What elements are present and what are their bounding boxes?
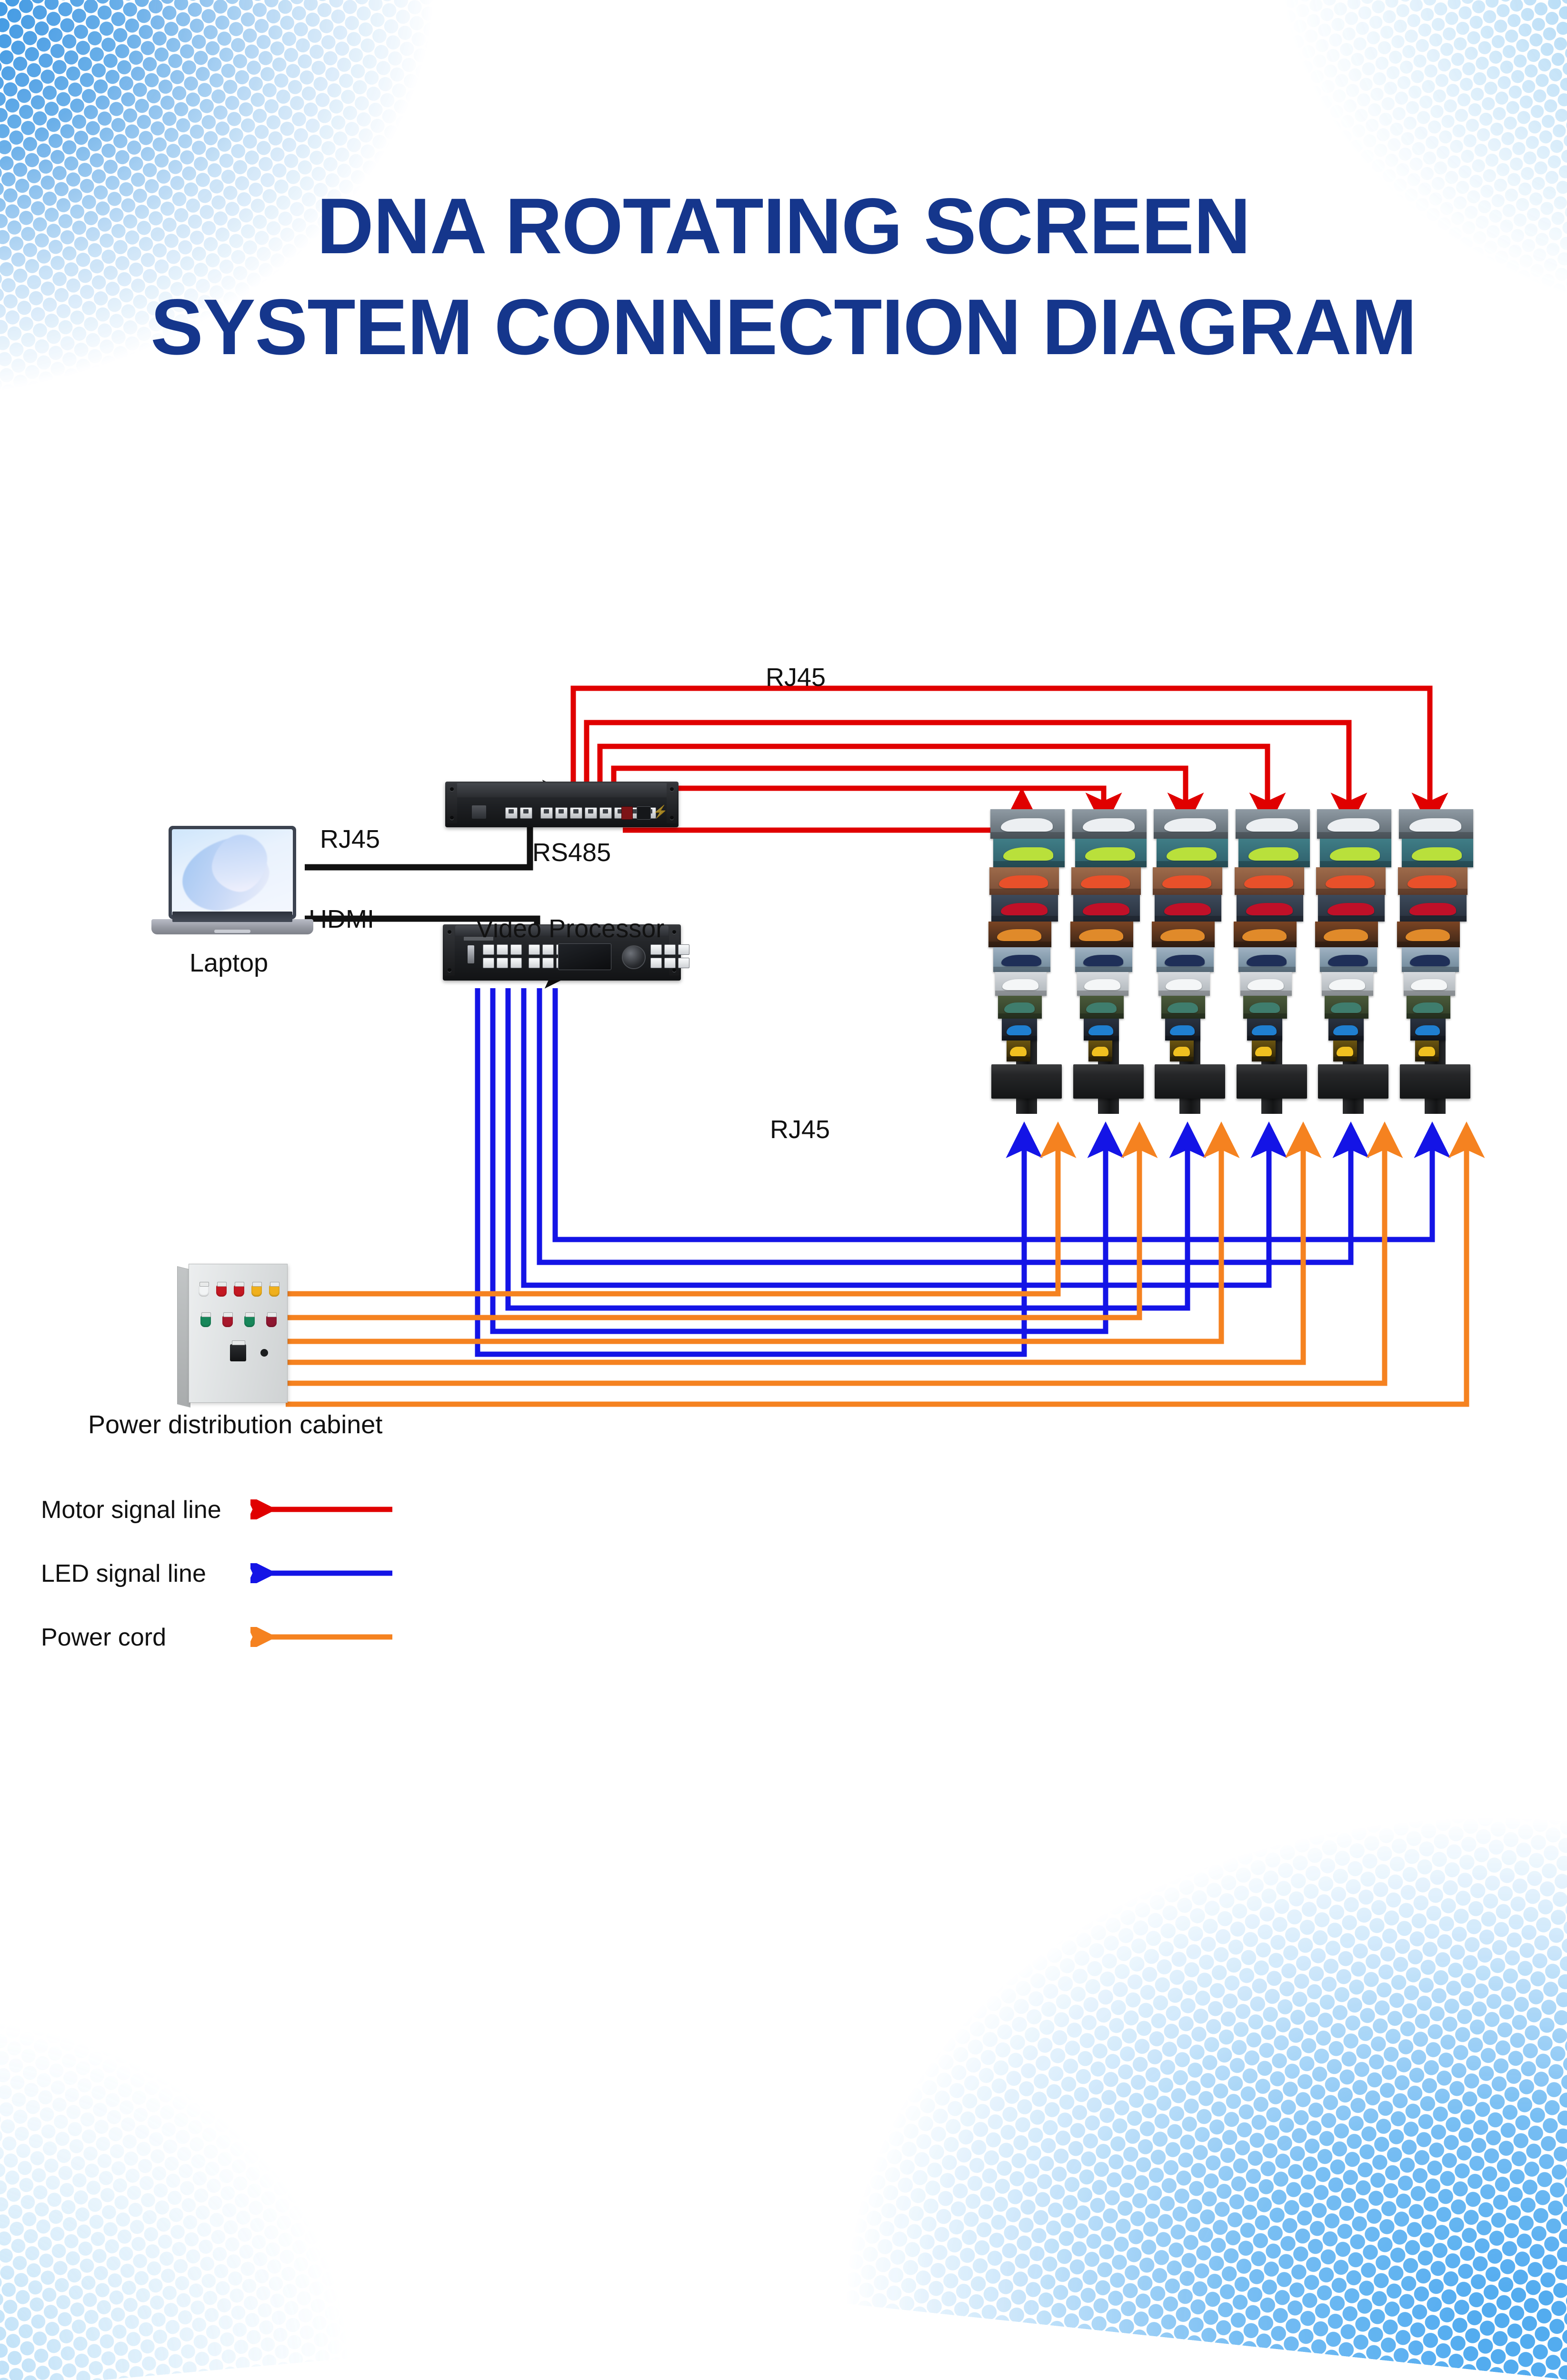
- panel-road-band: [1410, 1036, 1446, 1041]
- car-image: [1246, 903, 1293, 915]
- panel-road-band: [998, 1013, 1042, 1019]
- screen-panel: [1234, 922, 1297, 947]
- screen-panel: [1075, 947, 1132, 972]
- car-image: [1173, 1047, 1190, 1056]
- car-image: [1088, 1025, 1113, 1035]
- screen-panel: [1165, 1019, 1200, 1041]
- panel-road-band: [1402, 861, 1473, 867]
- function-button[interactable]: [650, 944, 662, 955]
- panel-road-band: [1320, 861, 1391, 867]
- electrical-cabinet-icon[interactable]: [177, 1264, 287, 1409]
- panel-road-band: [1328, 1036, 1364, 1041]
- preset-button[interactable]: [510, 944, 522, 955]
- power-switch-icon[interactable]: [468, 945, 474, 963]
- screen-panel: [1236, 809, 1310, 839]
- screen-base: [1318, 1064, 1388, 1099]
- car-image: [1003, 847, 1053, 861]
- car-image: [1084, 979, 1120, 990]
- car-image: [1412, 847, 1462, 861]
- rj45-port[interactable]: [570, 807, 582, 819]
- cabinet-front-door[interactable]: [189, 1264, 288, 1403]
- screen-panel: [1415, 1041, 1439, 1061]
- panel-road-band: [1153, 889, 1222, 895]
- screen-base: [1237, 1064, 1307, 1099]
- car-image: [1255, 1047, 1272, 1056]
- car-image: [1092, 1047, 1108, 1056]
- panel-road-band: [1002, 1036, 1037, 1041]
- screen-panel: [998, 996, 1042, 1019]
- car-image: [1162, 875, 1211, 888]
- car-image: [1081, 875, 1129, 888]
- rack-ear-left: [444, 926, 455, 976]
- panel-road-band: [1236, 832, 1310, 839]
- screen-panel: [991, 895, 1058, 922]
- panel-road-band: [1154, 832, 1228, 839]
- screen-panel: [1402, 947, 1459, 972]
- car-image: [1413, 1002, 1443, 1013]
- car-image: [1248, 979, 1284, 990]
- panel-road-band: [1080, 1013, 1124, 1019]
- car-image: [1328, 955, 1368, 966]
- indicator-lamp: [234, 1285, 244, 1297]
- preset-button[interactable]: [497, 958, 508, 968]
- screen-panel: [1252, 1041, 1276, 1061]
- panel-road-band: [1398, 889, 1467, 895]
- screen-panel: [1157, 947, 1214, 972]
- screen-panel: [1407, 996, 1450, 1019]
- car-image: [1079, 929, 1123, 941]
- preset-button[interactable]: [529, 958, 540, 968]
- preset-button[interactable]: [542, 958, 554, 968]
- screen-panel: [1077, 972, 1128, 996]
- screen-base: [1073, 1064, 1144, 1099]
- preset-button[interactable]: [497, 944, 508, 955]
- car-image: [1001, 818, 1053, 832]
- rack-ear-right: [667, 783, 677, 823]
- screen-panel: [1320, 947, 1377, 972]
- screen-panel: [1400, 895, 1467, 922]
- car-image: [1415, 1025, 1440, 1035]
- car-image: [1247, 955, 1287, 966]
- panel-road-band: [1240, 991, 1292, 996]
- panel-road-band: [1238, 861, 1310, 867]
- label-hdmi: HDMI: [309, 904, 374, 934]
- car-image: [1001, 955, 1041, 966]
- lightning-icon: ⚡: [653, 805, 668, 818]
- car-image: [1246, 818, 1298, 832]
- panel-road-band: [1161, 1013, 1205, 1019]
- screen-panel: [1238, 839, 1310, 867]
- panel-road-band: [1316, 889, 1386, 895]
- panel-road-band: [1071, 889, 1141, 895]
- panel-road-band: [1072, 832, 1147, 839]
- pilot-light-icon: [260, 1349, 268, 1357]
- car-image: [1164, 818, 1216, 832]
- left-arrow-icon: [250, 1499, 393, 1519]
- car-image: [1164, 903, 1211, 915]
- screen-panel: [1080, 996, 1124, 1019]
- screen-panel: [1317, 809, 1391, 839]
- panel-road-band: [1320, 967, 1377, 972]
- car-image: [999, 875, 1048, 888]
- panel-road-band: [1237, 916, 1303, 922]
- panel-road-band: [1318, 916, 1385, 922]
- panel-road-band: [1234, 942, 1297, 947]
- screen-panel: [1071, 867, 1141, 895]
- button-row-right-top[interactable]: [650, 944, 689, 955]
- panel-road-band: [1235, 889, 1304, 895]
- rs485-switch-icon[interactable]: ⚡: [445, 782, 679, 827]
- screen-panel: [1333, 1041, 1357, 1061]
- car-image: [1083, 818, 1135, 832]
- screen-panel: [988, 922, 1051, 947]
- indicator-lamp: [222, 1316, 233, 1327]
- screen-panel: [1073, 895, 1140, 922]
- panel-road-band: [1158, 991, 1210, 996]
- cable-diagram: [0, 0, 1567, 2226]
- car-image: [1326, 875, 1374, 888]
- car-image: [1324, 929, 1367, 941]
- car-image: [1407, 875, 1456, 888]
- preset-button[interactable]: [510, 958, 522, 968]
- screen-panel: [1240, 972, 1292, 996]
- jog-dial-icon[interactable]: [622, 945, 646, 969]
- screen-panel: [1161, 996, 1205, 1019]
- screen-panel: [1322, 972, 1373, 996]
- laptop-label: Laptop: [190, 948, 268, 978]
- panel-road-band: [1404, 991, 1455, 996]
- panel-road-band: [1252, 1057, 1276, 1061]
- car-image: [1249, 1002, 1280, 1013]
- screen-panel: [1153, 867, 1222, 895]
- screen-panel: [989, 867, 1059, 895]
- screen-panel: [1157, 839, 1228, 867]
- panel-road-band: [1157, 861, 1228, 867]
- button-row-right-bottom[interactable]: [650, 958, 689, 968]
- indicator-lamp: [216, 1285, 227, 1297]
- screen-panel: [1070, 922, 1133, 947]
- screen-panel: [1152, 922, 1215, 947]
- screen-panel: [1235, 867, 1304, 895]
- panel-road-band: [1317, 832, 1391, 839]
- panel-road-band: [1333, 1057, 1357, 1061]
- car-image: [1327, 818, 1379, 832]
- rj45-port[interactable]: [555, 807, 568, 819]
- panel-road-band: [1407, 1013, 1450, 1019]
- car-image: [1167, 847, 1217, 861]
- panel-road-band: [995, 991, 1047, 996]
- screen-panel: [1170, 1041, 1194, 1061]
- panel-road-band: [1070, 942, 1133, 947]
- car-image: [1001, 903, 1048, 915]
- panel-road-band: [1399, 832, 1473, 839]
- panel-road-band: [1075, 861, 1147, 867]
- car-image: [1085, 847, 1135, 861]
- panel-road-band: [1415, 1057, 1439, 1061]
- car-image: [1409, 903, 1456, 915]
- legend-label: Motor signal line: [41, 1496, 221, 1524]
- rs485-label: RS485: [532, 838, 611, 867]
- screen-panel: [1404, 972, 1455, 996]
- screen-panel: [1318, 895, 1385, 922]
- video-processor-label: Video Processor: [476, 914, 664, 943]
- car-image: [1330, 847, 1380, 861]
- screen-panel: [1328, 1019, 1364, 1041]
- car-image: [1418, 1047, 1435, 1056]
- panel-road-band: [1243, 1013, 1287, 1019]
- panel-road-band: [1157, 967, 1214, 972]
- car-image: [997, 929, 1041, 941]
- screen-panel: [1316, 867, 1386, 895]
- panel-road-band: [1073, 916, 1140, 922]
- indicator-lamp: [266, 1316, 277, 1327]
- cables-power-cord: [286, 1142, 1467, 1404]
- screen-panel: [1410, 1019, 1446, 1041]
- car-image: [1168, 1002, 1198, 1013]
- screen-panel: [990, 809, 1065, 839]
- screen-panel: [1002, 1019, 1037, 1041]
- screen-panel: [1075, 839, 1147, 867]
- panel-road-band: [1155, 916, 1221, 922]
- screen-panel: [1072, 809, 1147, 839]
- screen-panel: [1088, 1041, 1112, 1061]
- screen-panel: [1154, 809, 1228, 839]
- rj45-port[interactable]: [599, 807, 612, 819]
- screen-panel: [993, 947, 1050, 972]
- car-image: [1083, 903, 1129, 915]
- car-image: [1010, 1047, 1027, 1056]
- screen-panel: [1237, 895, 1303, 922]
- function-button[interactable]: [678, 944, 689, 955]
- preset-button[interactable]: [483, 958, 494, 968]
- screen-panel: [1399, 809, 1473, 839]
- preset-button[interactable]: [529, 944, 540, 955]
- car-image: [1165, 955, 1205, 966]
- power-cabinet-label: Power distribution cabinet: [88, 1410, 382, 1439]
- car-image: [1083, 955, 1123, 966]
- indicator-lamp: [269, 1285, 279, 1297]
- preset-button[interactable]: [483, 944, 494, 955]
- iec-power-inlet-icon: [637, 806, 651, 820]
- laptop-screen: [172, 829, 293, 916]
- car-image: [1327, 903, 1374, 915]
- panel-road-band: [989, 889, 1059, 895]
- rs485-top-panel: [457, 783, 667, 797]
- screen-panel: [1158, 972, 1210, 996]
- screen-panel: [1402, 839, 1473, 867]
- panel-road-band: [1315, 942, 1378, 947]
- car-image: [1160, 929, 1204, 941]
- preset-button[interactable]: [542, 944, 554, 955]
- screen-panel: [1084, 1019, 1119, 1041]
- car-image: [1333, 1025, 1358, 1035]
- panel-road-band: [1170, 1057, 1194, 1061]
- panel-road-band: [1088, 1057, 1112, 1061]
- function-button[interactable]: [678, 958, 689, 968]
- panel-road-band: [988, 942, 1051, 947]
- panel-road-band: [1007, 1057, 1030, 1061]
- panel-road-band: [1077, 991, 1128, 996]
- rotary-switch-icon[interactable]: [230, 1344, 246, 1361]
- screen-base: [991, 1064, 1062, 1099]
- indicator-lamp: [199, 1285, 209, 1297]
- rj45-port[interactable]: [520, 807, 532, 819]
- indicator-lamp: [200, 1316, 211, 1327]
- car-image: [1007, 1025, 1031, 1035]
- car-image: [1242, 929, 1286, 941]
- car-image: [1248, 847, 1298, 861]
- screen-base: [1155, 1064, 1225, 1099]
- car-image: [1086, 1002, 1117, 1013]
- car-image: [1409, 818, 1461, 832]
- left-arrow-icon: [250, 1627, 393, 1647]
- panel-road-band: [1247, 1036, 1282, 1041]
- indicator-lamp: [244, 1316, 255, 1327]
- indicator-lamp: [251, 1285, 262, 1297]
- legend-label: LED signal line: [41, 1559, 206, 1588]
- panel-road-band: [1397, 942, 1460, 947]
- laptop-keyboard: [172, 912, 292, 922]
- laptop-icon[interactable]: [151, 826, 313, 945]
- panel-road-band: [1165, 1036, 1200, 1041]
- function-button[interactable]: [664, 958, 676, 968]
- car-image: [1337, 1047, 1353, 1056]
- screen-panel: [1315, 922, 1378, 947]
- screen-panel: [1398, 867, 1467, 895]
- car-image: [1004, 1002, 1035, 1013]
- car-image: [1002, 979, 1038, 990]
- lcd-display: [558, 943, 611, 970]
- function-button[interactable]: [650, 958, 662, 968]
- car-image: [1411, 979, 1447, 990]
- label-rj45-motor: RJ45: [766, 663, 826, 692]
- screen-panel: [1238, 947, 1296, 972]
- car-image: [1329, 979, 1365, 990]
- car-image: [1331, 1002, 1361, 1013]
- panel-road-band: [991, 916, 1058, 922]
- screen-panel: [1243, 996, 1287, 1019]
- panel-road-band: [1238, 967, 1296, 972]
- rj45-port[interactable]: [585, 807, 597, 819]
- screen-panel: [1325, 996, 1368, 1019]
- screen-panel: [995, 972, 1047, 996]
- car-image: [1410, 955, 1450, 966]
- screen-panel: [1155, 895, 1221, 922]
- panel-road-band: [1084, 1036, 1119, 1041]
- screen-panel: [993, 839, 1065, 867]
- screen-base: [1400, 1064, 1470, 1099]
- legend-label: Power cord: [41, 1623, 166, 1652]
- left-arrow-icon: [250, 1563, 393, 1583]
- rs485-brand-plate: [472, 805, 486, 819]
- panel-road-band: [1325, 1013, 1368, 1019]
- screen-panel: [1320, 839, 1391, 867]
- panel-road-band: [1152, 942, 1215, 947]
- label-rj45-laptop: RJ45: [320, 824, 380, 854]
- laptop-touchpad: [214, 930, 250, 933]
- panel-road-band: [1400, 916, 1467, 922]
- car-image: [1406, 929, 1449, 941]
- car-image: [1170, 1025, 1195, 1035]
- panel-road-band: [993, 967, 1050, 972]
- car-image: [1244, 875, 1293, 888]
- screen-panel: [1397, 922, 1460, 947]
- screen-panel: [1247, 1019, 1282, 1041]
- screen-panel: [1007, 1041, 1030, 1061]
- car-image: [1252, 1025, 1277, 1035]
- laptop-lid: [169, 826, 296, 919]
- rj45-port[interactable]: [505, 807, 518, 819]
- rack-ear-left: [447, 783, 457, 823]
- panel-road-band: [1402, 967, 1459, 972]
- panel-road-band: [1322, 991, 1373, 996]
- panel-road-band: [1075, 967, 1132, 972]
- power-switch-icon[interactable]: [621, 806, 633, 820]
- panel-road-band: [993, 861, 1065, 867]
- label-rj45-led: RJ45: [770, 1115, 830, 1144]
- rs485-port-bank[interactable]: [505, 807, 656, 819]
- rj45-port[interactable]: [540, 807, 553, 819]
- function-button[interactable]: [664, 944, 676, 955]
- car-image: [1166, 979, 1202, 990]
- panel-road-band: [990, 832, 1065, 839]
- cables-led-signal: [478, 988, 1432, 1354]
